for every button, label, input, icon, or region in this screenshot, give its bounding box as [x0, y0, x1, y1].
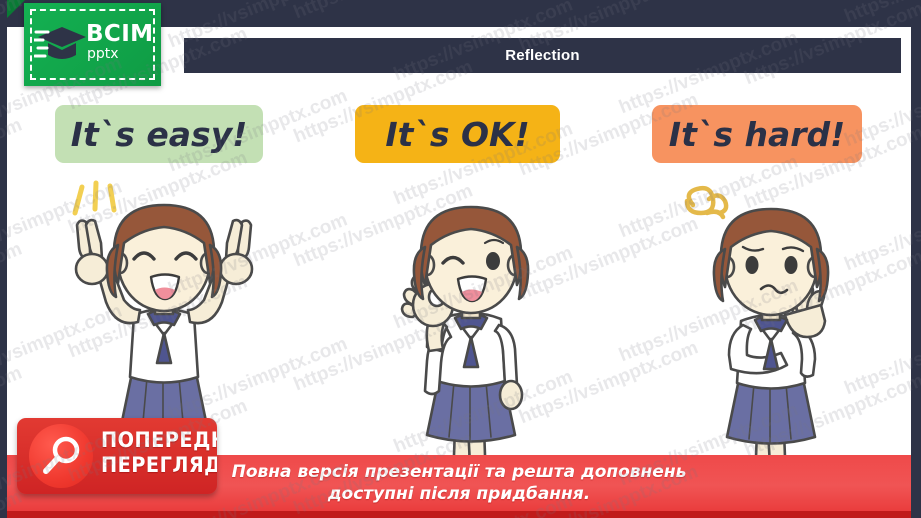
window-right-band — [911, 0, 921, 518]
mood-chip-easy-label: It`s easy! — [71, 115, 248, 154]
page-title: Reflection — [505, 47, 580, 64]
mood-chip-hard[interactable]: It`s hard! — [652, 105, 862, 163]
character-schoolgirl-ok-sign — [357, 165, 587, 495]
preview-badge-line1: ПОПЕРЕДНІЙ — [101, 428, 217, 453]
preview-badge: ПОПЕРЕДНІЙ ПЕРЕГЛЯД — [17, 418, 217, 494]
mood-chip-easy[interactable]: It`s easy! — [55, 105, 263, 163]
character-schoolgirl-hand-on-cheek — [657, 165, 887, 495]
purchase-banner-footer — [7, 511, 911, 518]
preview-badge-text: ПОПЕРЕДНІЙ ПЕРЕГЛЯД — [101, 428, 217, 478]
mood-chip-row: It`s easy! It`s OK! It`s hard! — [7, 105, 911, 167]
graduation-cap-icon — [34, 25, 86, 72]
purchase-banner-line1: Повна версія презентації та решта доповн… — [232, 461, 687, 483]
mood-chip-hard-label: It`s hard! — [669, 115, 845, 154]
preview-badge-line2: ПЕРЕГЛЯД — [101, 453, 217, 478]
purchase-banner-line2: доступні після придбання. — [328, 483, 590, 505]
mood-chip-ok[interactable]: It`s OK! — [355, 105, 560, 163]
window-left-band — [0, 0, 7, 518]
slide-preview-window: Reflection It`s easy! It`s OK! It`s hard… — [0, 0, 921, 518]
logo-subtitle: pptx — [87, 47, 119, 62]
mood-chip-ok-label: It`s OK! — [385, 115, 529, 154]
magnifier-icon — [29, 424, 93, 488]
logo-name: ВСІМ — [86, 22, 153, 46]
site-logo[interactable]: ВСІМ pptx — [24, 3, 161, 86]
slide-title-bar: Reflection — [184, 38, 901, 73]
